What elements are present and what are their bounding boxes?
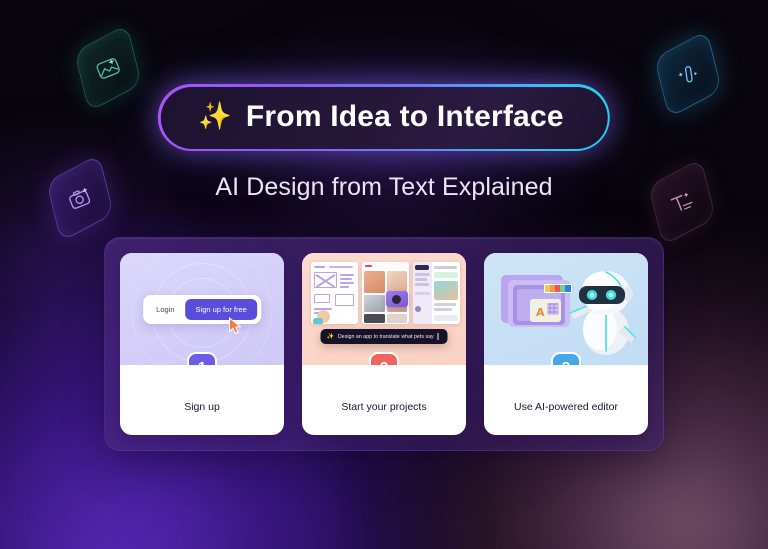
prompt-text: Design an app to translate what pets say xyxy=(338,334,434,340)
robot-mascot-icon xyxy=(570,271,636,355)
step-card-signup[interactable]: Login Sign up for free 1 Sign up xyxy=(120,253,284,435)
step-badge: 2 xyxy=(369,352,399,365)
step-2-artwork: ✨ Design an app to translate what pets s… xyxy=(302,253,466,365)
hero-banner: ✨ From Idea to Interface AI Design from … xyxy=(0,0,768,549)
step-card-projects[interactable]: ✨ Design an app to translate what pets s… xyxy=(302,253,466,435)
page-title: From Idea to Interface xyxy=(246,100,564,134)
step-3-artwork: A xyxy=(484,253,648,365)
svg-text:A: A xyxy=(536,306,545,319)
signup-free-button[interactable]: Sign up for free xyxy=(186,299,257,320)
sparkles-icon: ✨ xyxy=(327,334,334,340)
hero-title-pill: ✨ From Idea to Interface xyxy=(158,84,610,151)
cursor-badge xyxy=(386,291,408,307)
steps-list: Login Sign up for free 1 Sign up xyxy=(120,253,648,435)
login-button[interactable]: Login xyxy=(147,300,183,319)
thumbnail-wireframe-sketch xyxy=(311,262,358,324)
text-caret xyxy=(438,333,439,340)
image-sparkle-icon xyxy=(74,24,142,112)
step-badge: 1 xyxy=(187,352,217,365)
design-canvas-icon: A xyxy=(501,275,572,327)
thumbnail-chat-article xyxy=(413,262,460,324)
step-1-artwork: Login Sign up for free 1 xyxy=(120,253,284,365)
step-card-editor[interactable]: A xyxy=(484,253,648,435)
step-caption: Start your projects xyxy=(302,365,466,435)
sparkles-icon: ✨ xyxy=(198,103,232,130)
text-sparkle-icon xyxy=(648,158,716,246)
prompt-input[interactable]: ✨ Design an app to translate what pets s… xyxy=(321,329,448,344)
step-badge: 3 xyxy=(551,352,581,365)
hero-subtitle: AI Design from Text Explained xyxy=(0,173,768,202)
magic-wand-icon xyxy=(654,30,722,118)
step-caption: Use AI-powered editor xyxy=(484,365,648,435)
step-caption: Sign up xyxy=(120,365,284,435)
